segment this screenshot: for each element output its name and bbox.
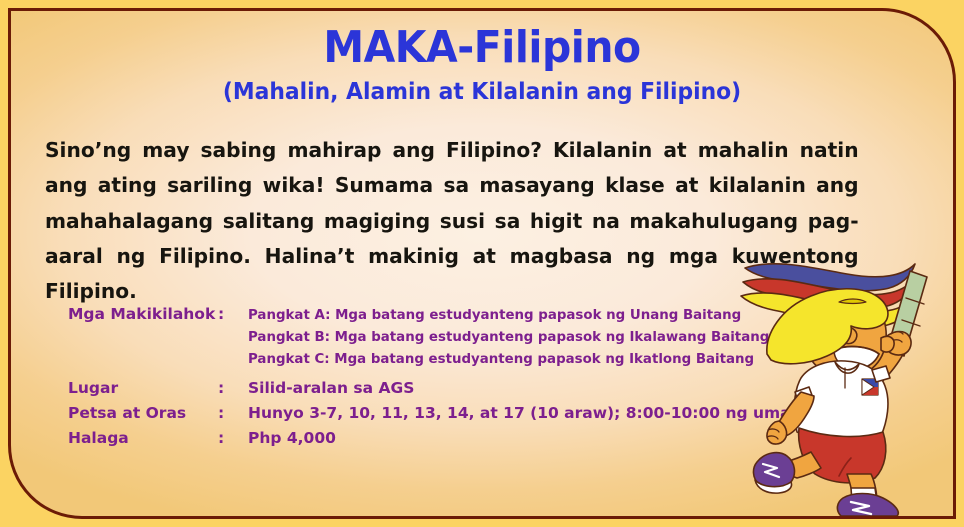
poster-description: Sino’ng may sabing mahirap ang Filipino?… [45,133,859,309]
mascot-right-eye [860,312,878,318]
mascot-mouth [834,347,879,370]
banner-pole [887,271,927,356]
detail-colon: : [218,379,248,397]
page-title: MAKA-Filipino [44,25,920,71]
mascot-left-eye [831,316,852,322]
poster-header: MAKA-Filipino (Mahalin, Alamin at Kilala… [11,25,953,105]
mascot-left-sleeve-cuff [795,387,813,404]
detail-colon: : [218,305,248,323]
mascot-ear [881,336,894,352]
detail-value-date-time: Hunyo 3-7, 10, 11, 13, 14, at 17 (10 ara… [248,404,812,422]
mascot-shorts [799,428,886,483]
mascot-back-leg [775,452,821,478]
mascot-right-hand-fingers [890,332,903,342]
mascot-collar [835,362,859,373]
detail-value-participants: Pangkat A: Mga batang estudyanteng papas… [248,305,788,371]
participant-group-b: Pangkat B: Mga batang estudyanteng papas… [248,327,783,349]
mascot-front-shoe-stripe [851,502,871,514]
detail-row-date-time: Petsa at Oras : Hunyo 3-7, 10, 11, 13, 1… [68,404,788,422]
mascot-shorts-crease [839,458,851,476]
detail-label-fee: Halaga [68,429,218,447]
detail-label-participants: Mga Makikilahok [68,305,218,323]
mascot-mouth-line [834,347,879,354]
detail-row-fee: Halaga : Php 4,000 [68,429,788,447]
banner-pole-node [902,298,924,326]
mascot-right-arm [868,334,906,387]
mascot-nose [840,328,857,344]
mascot-back-shoe-stripe [763,464,779,477]
page-subtitle: (Mahalin, Alamin at Kilalanin ang Filipi… [35,80,930,105]
mascot-front-shoe [837,494,898,517]
mascot-right-hand [885,332,911,356]
participant-group-c: Pangkat C: Mga batang estudyanteng papas… [248,349,783,371]
mascot-back-shoe-sole [755,480,792,493]
mascot-shirt [794,361,888,441]
detail-label-date-time: Petsa at Oras [68,404,218,422]
mascot-front-sock [851,488,877,502]
detail-row-participants: Mga Makikilahok : Pangkat A: Mga batang … [68,305,788,371]
mascot-back-shoe [753,453,794,489]
detail-colon: : [218,404,248,422]
mascot-right-sleeve-cuff [872,366,890,382]
detail-label-venue: Lugar [68,379,218,397]
poster-card: MAKA-Filipino (Mahalin, Alamin at Kilala… [8,8,956,519]
poster: MAKA-Filipino (Mahalin, Alamin at Kilala… [0,0,964,527]
detail-colon: : [218,429,248,447]
mascot-front-leg [847,474,877,502]
philippine-flag-patch [862,379,878,395]
detail-value-venue: Silid-aralan sa AGS [248,379,788,397]
detail-value-fee: Php 4,000 [248,429,788,447]
participant-group-a: Pangkat A: Mga batang estudyanteng papas… [248,305,783,327]
details-table: Mga Makikilahok : Pangkat A: Mga batang … [68,305,788,447]
detail-row-venue: Lugar : Silid-aralan sa AGS [68,379,788,397]
